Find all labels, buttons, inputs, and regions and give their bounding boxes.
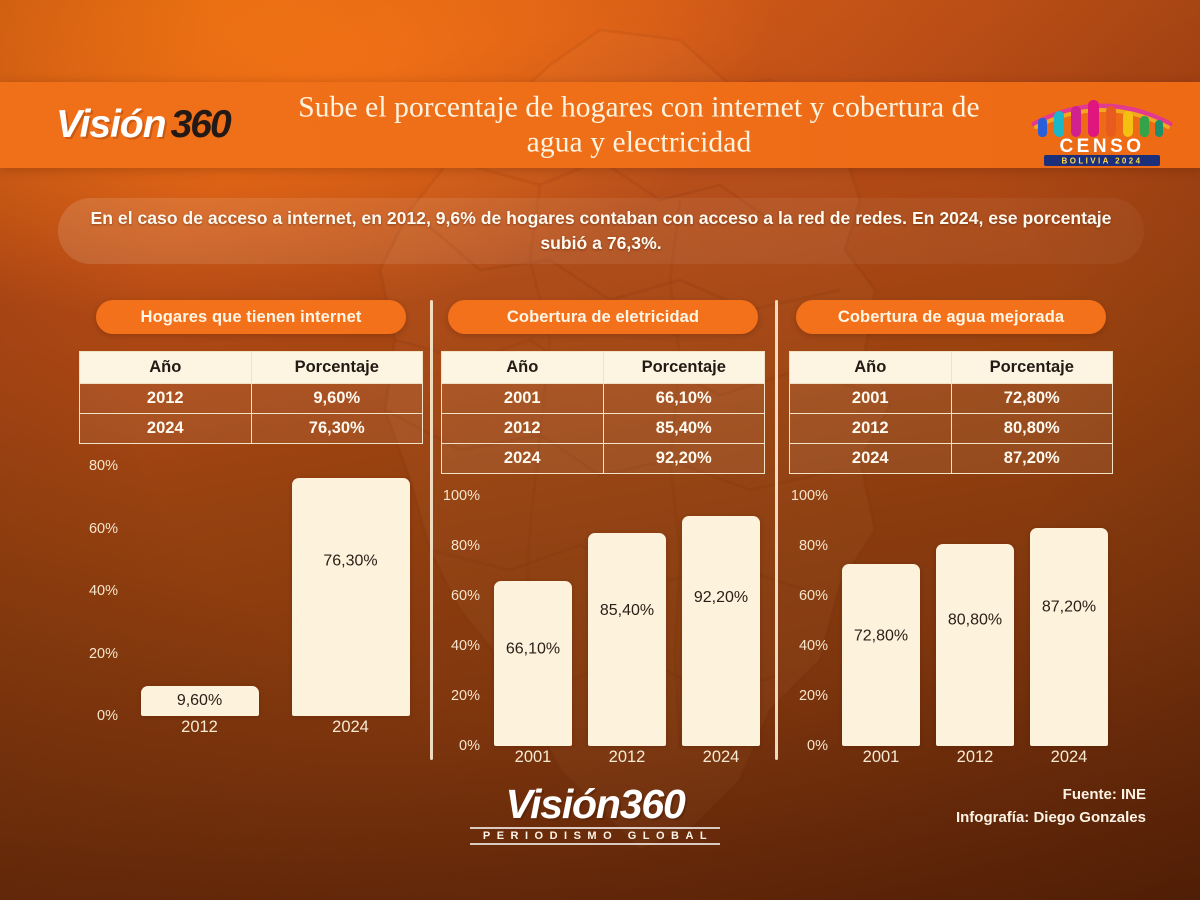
- y-axis: 0%20%40%60%80%: [76, 466, 122, 716]
- cell-year: 2001: [442, 384, 604, 414]
- y-axis: 0%20%40%60%80%100%: [438, 496, 484, 746]
- cell-percent: 85,40%: [603, 414, 765, 444]
- y-axis: 0%20%40%60%80%100%: [786, 496, 832, 746]
- bars-container: 66,10%85,40%92,20%: [486, 496, 768, 746]
- table-body: 2001 66,10% 2012 85,40% 2024 92,20%: [442, 384, 765, 474]
- credits-block: Fuente: INE Infografía: Diego Gonzales: [956, 783, 1146, 830]
- bar: 72,80%: [842, 564, 920, 746]
- table-head: Año Porcentaje: [442, 352, 765, 384]
- cell-year: 2012: [442, 414, 604, 444]
- cell-percent: 9,60%: [251, 384, 423, 414]
- table-row: 2012 80,80%: [790, 414, 1113, 444]
- data-table-electricity: Año Porcentaje 2001 66,10% 2012 85,40% 2…: [441, 351, 765, 474]
- x-axis-labels: 200120122024: [486, 748, 768, 776]
- bar-value-label: 72,80%: [854, 627, 908, 645]
- x-axis-tick-label: 2012: [588, 748, 666, 776]
- bar-group: 9,60%: [141, 466, 259, 716]
- subtitle-banner: En el caso de acceso a internet, en 2012…: [58, 198, 1144, 264]
- x-axis-tick-label: 2001: [494, 748, 572, 776]
- subtitle-text: En el caso de acceso a internet, en 2012…: [88, 206, 1114, 256]
- col-header-ano: Año: [80, 352, 252, 384]
- cell-percent: 80,80%: [951, 414, 1113, 444]
- vision360-header-logo: Visión 360: [56, 103, 230, 147]
- bar-chart-electricity: 0%20%40%60%80%100% 66,10%85,40%92,20% 20…: [438, 496, 768, 786]
- section-title-electricity: Cobertura de eletricidad: [448, 300, 758, 334]
- col-header-ano: Año: [442, 352, 604, 384]
- y-axis-tick-label: 100%: [443, 488, 480, 504]
- y-axis-tick-label: 80%: [89, 458, 118, 474]
- bar: 85,40%: [588, 533, 666, 747]
- bar-chart-water: 0%20%40%60%80%100% 72,80%80,80%87,20% 20…: [786, 496, 1116, 786]
- bar-value-label: 76,30%: [323, 552, 377, 570]
- data-table-water: Año Porcentaje 2001 72,80% 2012 80,80% 2…: [789, 351, 1113, 474]
- section-title-water: Cobertura de agua mejorada: [796, 300, 1106, 334]
- y-axis-tick-label: 100%: [791, 488, 828, 504]
- cell-percent: 92,20%: [603, 444, 765, 474]
- column-electricity: Cobertura de eletricidad Año Porcentaje …: [438, 300, 768, 786]
- table-row: 2024 92,20%: [442, 444, 765, 474]
- bar-value-label: 80,80%: [948, 611, 1002, 629]
- y-axis-tick-label: 20%: [451, 688, 480, 704]
- bar: 92,20%: [682, 516, 760, 747]
- credit-infographic: Infografía: Diego Gonzales: [956, 806, 1146, 829]
- bar-group: 66,10%: [494, 496, 572, 746]
- bar-value-label: 87,20%: [1042, 599, 1096, 617]
- svg-text:CENSO: CENSO: [1059, 136, 1144, 157]
- cell-percent: 72,80%: [951, 384, 1113, 414]
- table-row: 2001 66,10%: [442, 384, 765, 414]
- credit-source: Fuente: INE: [956, 783, 1146, 806]
- plot-area: 66,10%85,40%92,20%: [486, 496, 768, 746]
- brand-name-vision: Visión: [56, 103, 166, 147]
- y-axis-tick-label: 80%: [799, 538, 828, 554]
- table-row: 2012 9,60%: [80, 384, 423, 414]
- table-wrap-electricity: Año Porcentaje 2001 66,10% 2012 85,40% 2…: [438, 351, 768, 474]
- svg-text:BOLIVIA 2024: BOLIVIA 2024: [1062, 157, 1143, 166]
- plot-area: 9,60%76,30%: [124, 466, 426, 716]
- bar-group: 85,40%: [588, 496, 666, 746]
- page-title: Sube el porcentaje de hogares con intern…: [268, 91, 1010, 160]
- infographic-root: Visión 360 Sube el porcentaje de hogares…: [0, 0, 1200, 900]
- col-header-porcentaje: Porcentaje: [603, 352, 765, 384]
- bar-value-label: 85,40%: [600, 602, 654, 620]
- bar-value-label: 92,20%: [694, 589, 748, 607]
- y-axis-tick-label: 40%: [451, 638, 480, 654]
- section-title-internet: Hogares que tienen internet: [96, 300, 406, 334]
- col-header-porcentaje: Porcentaje: [251, 352, 423, 384]
- x-axis-tick-label: 2024: [292, 718, 410, 746]
- bar-value-label: 9,60%: [177, 692, 222, 710]
- cell-year: 2001: [790, 384, 952, 414]
- bar: 76,30%: [292, 478, 410, 716]
- table-body: 2012 9,60% 2024 76,30%: [80, 384, 423, 444]
- x-axis-labels: 20122024: [124, 718, 426, 746]
- cell-percent: 76,30%: [251, 414, 423, 444]
- section-title-label: Cobertura de eletricidad: [507, 308, 699, 327]
- section-title-label: Cobertura de agua mejorada: [838, 308, 1064, 327]
- bar-group: 92,20%: [682, 496, 760, 746]
- brand-name-360: 360: [171, 103, 230, 147]
- column-divider-2: [775, 300, 778, 760]
- footer-brand-360: 360: [620, 781, 685, 827]
- table-row: 2024 76,30%: [80, 414, 423, 444]
- bar: 9,60%: [141, 686, 259, 716]
- x-axis-tick-label: 2012: [141, 718, 259, 746]
- table-header-row: Año Porcentaje: [790, 352, 1113, 384]
- x-axis-tick-label: 2012: [936, 748, 1014, 776]
- cell-year: 2012: [80, 384, 252, 414]
- table-body: 2001 72,80% 2012 80,80% 2024 87,20%: [790, 384, 1113, 474]
- x-axis-tick-label: 2024: [1030, 748, 1108, 776]
- vision360-footer-logo: Visión360 PERIODISMO GLOBAL: [470, 784, 720, 845]
- table-wrap-water: Año Porcentaje 2001 72,80% 2012 80,80% 2…: [786, 351, 1116, 474]
- cell-percent: 66,10%: [603, 384, 765, 414]
- bar-group: 76,30%: [292, 466, 410, 716]
- censo-bolivia-2024-logo: CENSO BOLIVIA 2024: [1022, 84, 1182, 166]
- table-row: 2024 87,20%: [790, 444, 1113, 474]
- column-divider-1: [430, 300, 433, 760]
- table-head: Año Porcentaje: [80, 352, 423, 384]
- column-internet: Hogares que tienen internet Año Porcenta…: [76, 300, 426, 756]
- x-axis-tick-label: 2024: [682, 748, 760, 776]
- y-axis-tick-label: 20%: [799, 688, 828, 704]
- cell-year: 2024: [790, 444, 952, 474]
- y-axis-tick-label: 20%: [89, 646, 118, 662]
- col-header-ano: Año: [790, 352, 952, 384]
- cell-year: 2024: [442, 444, 604, 474]
- table-header-row: Año Porcentaje: [80, 352, 423, 384]
- bar-group: 72,80%: [842, 496, 920, 746]
- cell-year: 2012: [790, 414, 952, 444]
- bar-value-label: 66,10%: [506, 641, 560, 659]
- x-axis-tick-label: 2001: [842, 748, 920, 776]
- footer-brand-vision: Visión: [505, 781, 619, 827]
- bars-container: 9,60%76,30%: [124, 466, 426, 716]
- col-header-porcentaje: Porcentaje: [951, 352, 1113, 384]
- bar-chart-internet: 0%20%40%60%80% 9,60%76,30% 20122024: [76, 466, 426, 756]
- bar: 87,20%: [1030, 528, 1108, 746]
- table-header-row: Año Porcentaje: [442, 352, 765, 384]
- header-band: Visión 360 Sube el porcentaje de hogares…: [0, 82, 1200, 168]
- bar: 66,10%: [494, 581, 572, 746]
- table-row: 2012 85,40%: [442, 414, 765, 444]
- y-axis-tick-label: 80%: [451, 538, 480, 554]
- data-table-internet: Año Porcentaje 2012 9,60% 2024 76,30%: [79, 351, 423, 444]
- footer-logo-text: Visión360: [470, 784, 720, 825]
- bar-group: 87,20%: [1030, 496, 1108, 746]
- y-axis-tick-label: 60%: [451, 588, 480, 604]
- table-row: 2001 72,80%: [790, 384, 1113, 414]
- cell-percent: 87,20%: [951, 444, 1113, 474]
- y-axis-tick-label: 0%: [807, 738, 828, 754]
- table-head: Año Porcentaje: [790, 352, 1113, 384]
- plot-area: 72,80%80,80%87,20%: [834, 496, 1116, 746]
- y-axis-tick-label: 40%: [89, 583, 118, 599]
- bar: 80,80%: [936, 544, 1014, 746]
- column-water: Cobertura de agua mejorada Año Porcentaj…: [786, 300, 1116, 786]
- section-title-label: Hogares que tienen internet: [141, 308, 362, 327]
- y-axis-tick-label: 60%: [89, 521, 118, 537]
- bars-container: 72,80%80,80%87,20%: [834, 496, 1116, 746]
- y-axis-tick-label: 60%: [799, 588, 828, 604]
- table-wrap-internet: Año Porcentaje 2012 9,60% 2024 76,30%: [76, 351, 426, 444]
- y-axis-tick-label: 40%: [799, 638, 828, 654]
- cell-year: 2024: [80, 414, 252, 444]
- x-axis-labels: 200120122024: [834, 748, 1116, 776]
- footer-logo-tagline: PERIODISMO GLOBAL: [470, 827, 720, 845]
- y-axis-tick-label: 0%: [459, 738, 480, 754]
- bar-group: 80,80%: [936, 496, 1014, 746]
- y-axis-tick-label: 0%: [97, 708, 118, 724]
